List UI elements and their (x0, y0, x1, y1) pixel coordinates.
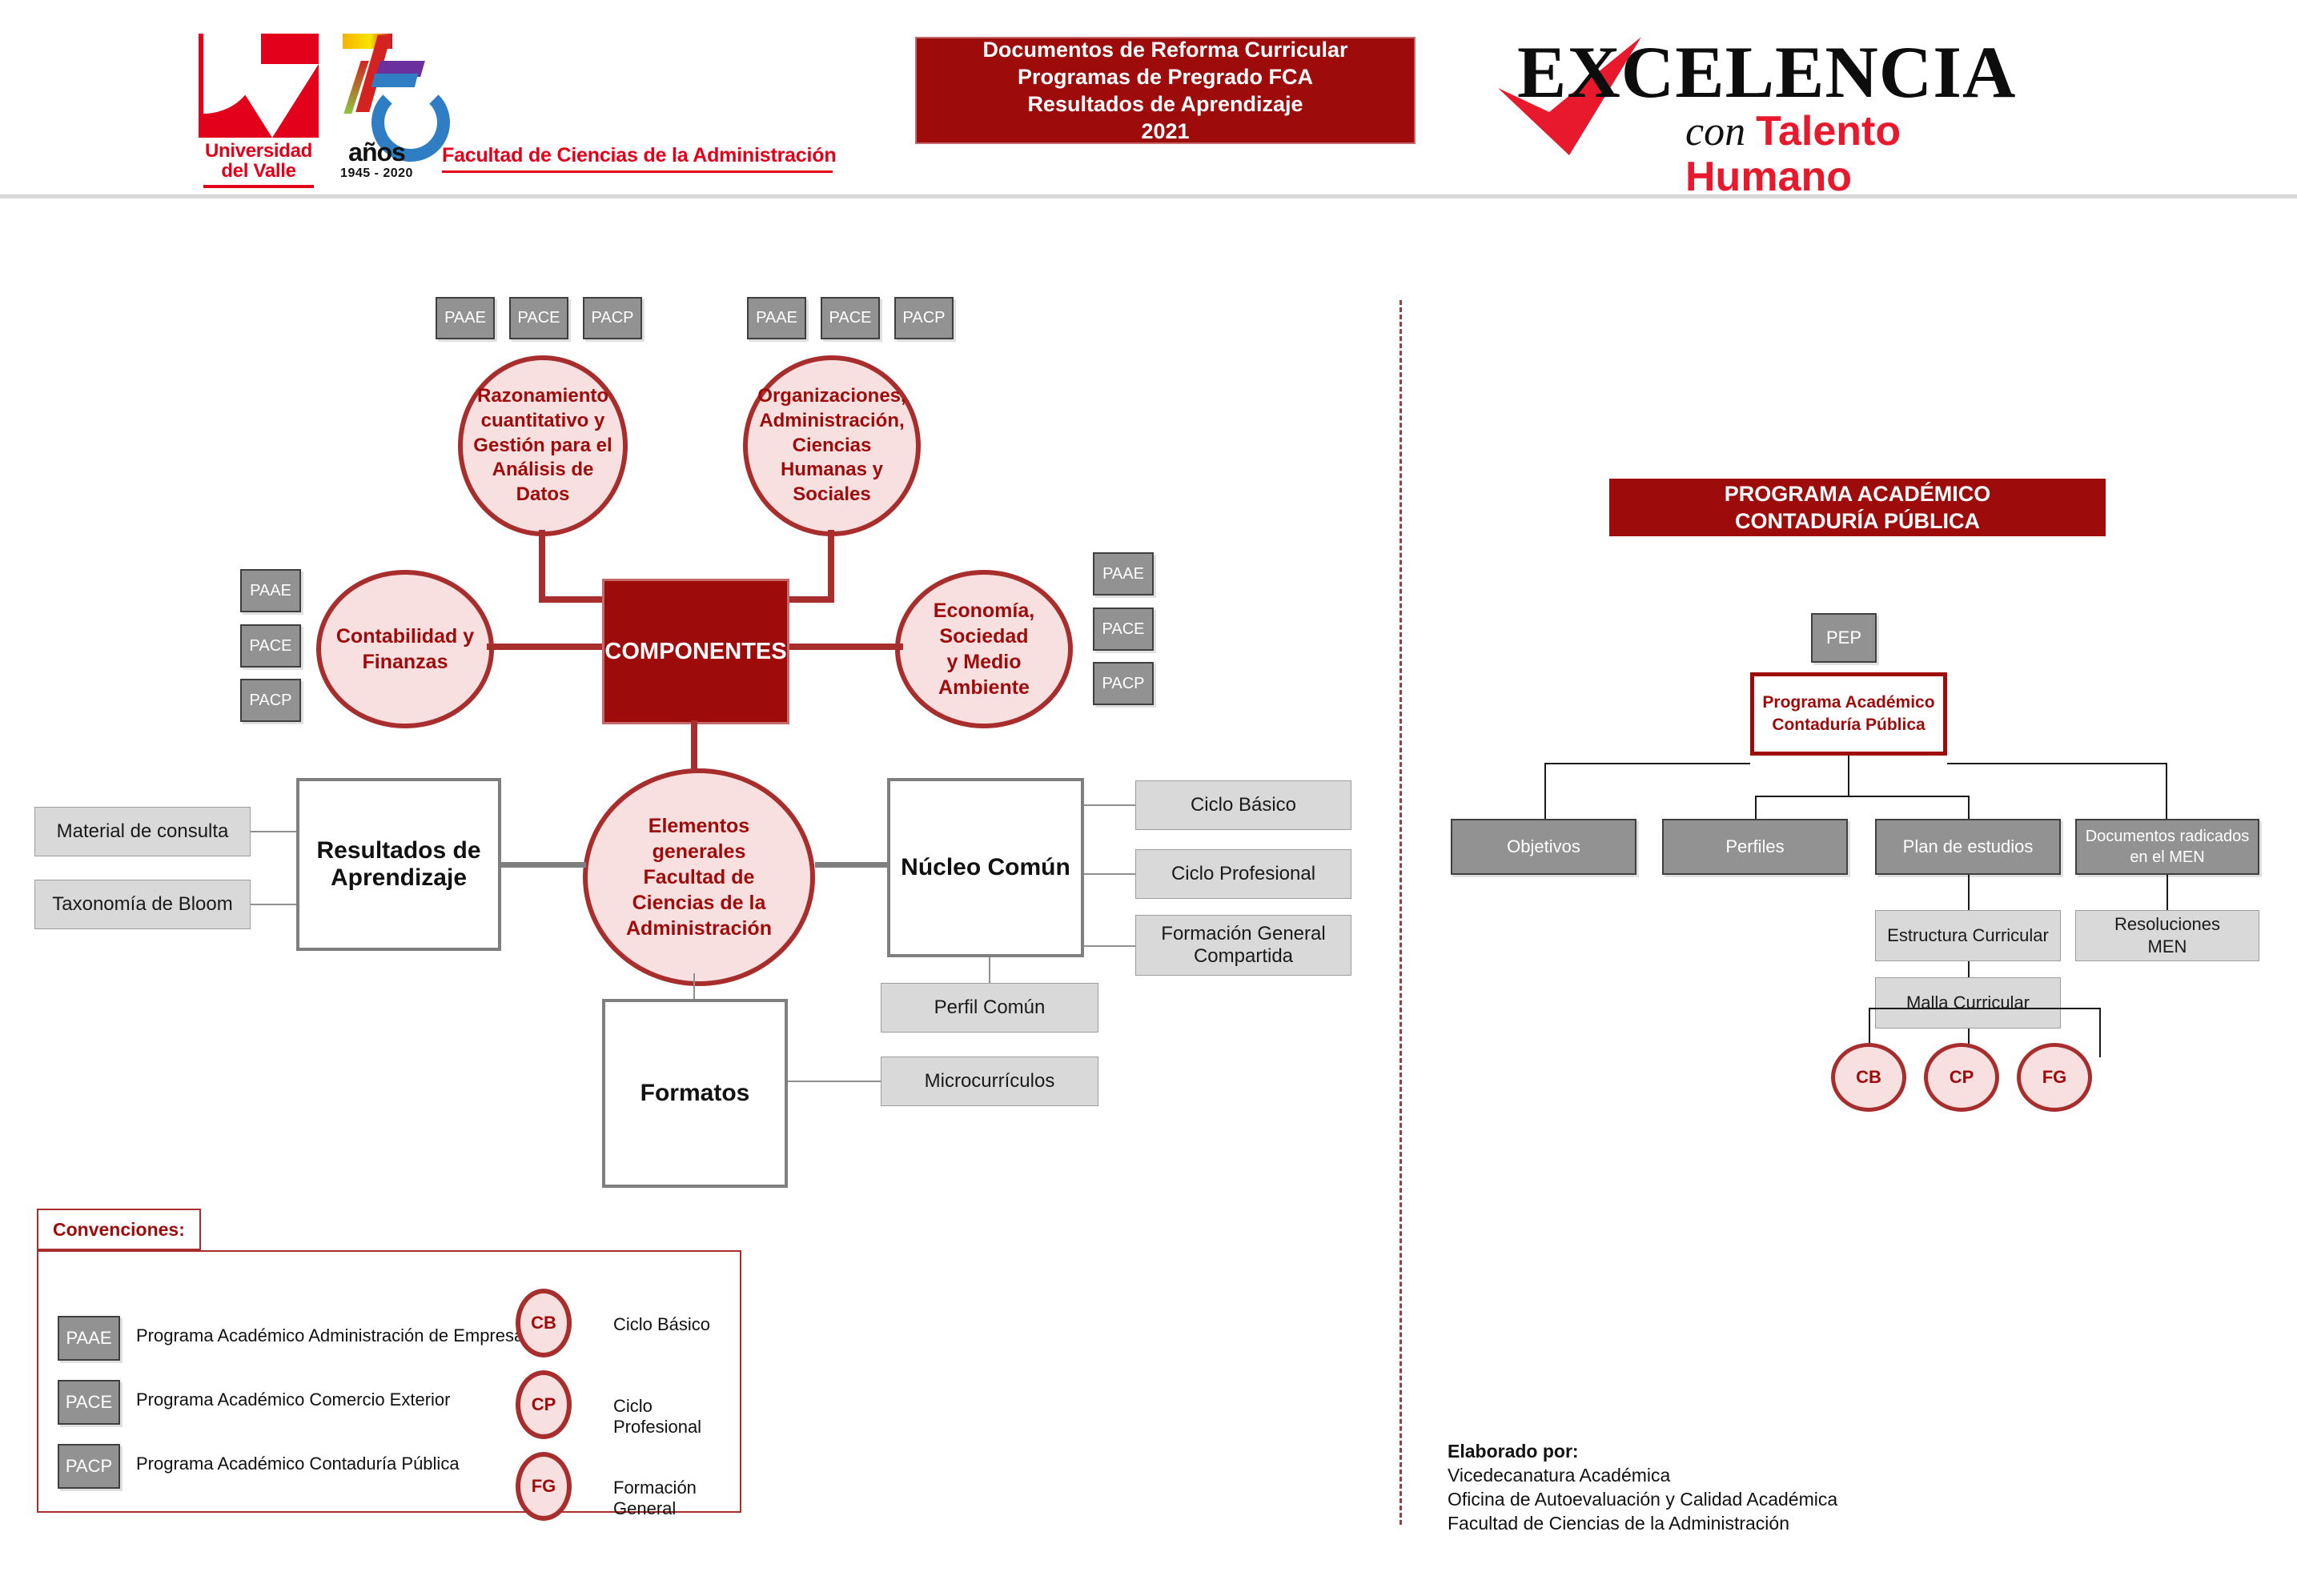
connector-taxonomia-resultados (251, 904, 296, 905)
elaborado-line3: Facultad de Ciencias de la Administració… (1448, 1511, 2008, 1535)
connector-documentos-resoluciones (2166, 875, 2168, 910)
convenciones-tab: Convenciones: (37, 1209, 201, 1250)
resoluciones-men-box[interactable]: Resoluciones MEN (2075, 910, 2259, 961)
connector-root-left-bus (1544, 763, 1750, 764)
legend-label-paae: Programa Académico Administración de Emp… (136, 1325, 532, 1346)
connector-material-resultados (251, 831, 296, 832)
nucleo-comun-box[interactable]: Núcleo Común (887, 778, 1084, 957)
plan-estudios-box[interactable]: Plan de estudios (1875, 819, 2061, 875)
microcurriculos-box[interactable]: Microcurrículos (881, 1057, 1098, 1106)
tag-paae-comp2[interactable]: PAAE (747, 297, 806, 339)
header-divider (0, 194, 2297, 198)
tag-pace-comp3[interactable]: PACE (240, 624, 301, 668)
legend-label-pace: Programa Académico Comercio Exterior (136, 1389, 450, 1410)
tag-pacp-comp1[interactable]: PACP (583, 297, 642, 339)
connector-nucleo-perfil (989, 957, 990, 983)
material-consulta-box[interactable]: Material de consulta (34, 807, 251, 856)
vertical-dashed-divider (1399, 300, 1402, 1525)
malla-curricular-box[interactable]: Malla Curricular (1875, 977, 2061, 1029)
legend-circle-cb[interactable]: CB (516, 1289, 572, 1357)
univalle-underline (203, 185, 314, 188)
connector-root-down (1848, 756, 1849, 797)
cycle-circle-fg[interactable]: FG (2017, 1043, 2092, 1112)
excelencia-logo: EXCELENCIA con Talento Humano (1485, 30, 1998, 158)
estructura-curricular-box[interactable]: Estructura Curricular (1875, 910, 2061, 961)
title-line-4: 2021 (982, 118, 1347, 145)
talento-humano-line: con Talento Humano (1685, 109, 1998, 199)
connector-plan-estructura (1968, 875, 1970, 910)
tag-pace-comp2[interactable]: PACE (821, 297, 880, 339)
five-glyph-icon (368, 74, 429, 144)
component-circle-contabilidad[interactable]: Contabilidad y Finanzas (316, 570, 494, 728)
con-word: con (1685, 109, 1756, 154)
elementos-generales-circle[interactable]: Elementos generales Facultad de Ciencias… (583, 768, 815, 986)
objetivos-box[interactable]: Objetivos (1451, 819, 1636, 875)
legend-chip-paae[interactable]: PAAE (58, 1316, 120, 1361)
connector-resultados-elementos (501, 862, 586, 868)
page-header: Universidad del Valle años 1945 - 2020 F… (0, 0, 2297, 197)
universidad-del-valle-logo: Universidad del Valle (199, 34, 319, 190)
connector-formatos-microcurriculos (788, 1081, 881, 1082)
tag-pace-comp1[interactable]: PACE (509, 297, 568, 339)
tag-pace-comp4[interactable]: PACE (1093, 608, 1154, 651)
elaborado-por-block: Elaborado por: Vicedecanatura Académica … (1448, 1439, 2008, 1535)
connector-comp2-down (828, 530, 834, 602)
tag-pacp-comp3[interactable]: PACP (240, 679, 301, 722)
legend-label-fg: Formación General (613, 1478, 740, 1519)
connector-comp1-down (539, 530, 545, 602)
perfiles-box[interactable]: Perfiles (1662, 819, 1848, 875)
connector-elementos-nucleo (815, 862, 887, 868)
connector-nucleo-cicloprof (1084, 873, 1135, 875)
programa-academico-root-box[interactable]: Programa Académico Contaduría Pública (1750, 672, 1947, 756)
component-circle-economia[interactable]: Economía, Sociedad y Medio Ambiente (895, 570, 1073, 728)
connector-root-right-bus (1947, 763, 2167, 764)
univalle-mark-icon (199, 34, 319, 138)
connector-nucleo-ciclobasico (1084, 804, 1135, 806)
cycle-circle-cp[interactable]: CP (1924, 1043, 1999, 1112)
excelencia-wordmark: EXCELENCIA (1517, 35, 1998, 109)
legend-label-cp: Ciclo Profesional (613, 1396, 740, 1438)
legend-circle-cp[interactable]: CP (516, 1370, 572, 1439)
taxonomia-bloom-box[interactable]: Taxonomía de Bloom (34, 880, 251, 929)
tag-paae-comp1[interactable]: PAAE (436, 297, 495, 339)
legend-chip-pace[interactable]: PACE (58, 1380, 120, 1425)
elaborado-line2: Oficina de Autoevaluación y Calidad Acad… (1448, 1487, 2008, 1511)
component-circle-organizaciones[interactable]: Organizaciones, Administración, Ciencias… (743, 355, 921, 536)
connector-fg-drop (2099, 1008, 2101, 1057)
legend-label-cb: Ciclo Básico (613, 1314, 710, 1335)
document-title-block: Documentos de Reforma Curricular Program… (915, 37, 1416, 144)
anios-label: años (327, 138, 427, 167)
univalle-line2: del Valle (199, 161, 319, 181)
connector-economia-center (783, 644, 903, 650)
univalle-name: Universidad del Valle (199, 141, 319, 181)
connector-mid-bus (1755, 796, 1970, 797)
univalle-line1: Universidad (199, 141, 319, 161)
pep-box[interactable]: PEP (1811, 613, 1877, 663)
connector-center-down (691, 720, 697, 775)
perfil-comun-box[interactable]: Perfil Común (881, 983, 1098, 1033)
formatos-box[interactable]: Formatos (602, 999, 788, 1188)
legend-label-pacp: Programa Académico Contaduría Pública (136, 1454, 460, 1474)
right-panel-title: PROGRAMA ACADÉMICO CONTADURÍA PÚBLICA (1609, 479, 2106, 536)
tag-paae-comp4[interactable]: PAAE (1093, 552, 1154, 595)
tag-pacp-comp4[interactable]: PACP (1093, 662, 1154, 705)
tag-pacp-comp2[interactable]: PACP (894, 297, 954, 339)
title-line-3: Resultados de Aprendizaje (982, 90, 1347, 118)
legend-chip-pacp[interactable]: PACP (58, 1444, 120, 1489)
legend-circle-fg[interactable]: FG (516, 1452, 572, 1521)
formacion-general-compartida-box[interactable]: Formación General Compartida (1135, 915, 1351, 976)
elaborado-heading: Elaborado por: (1448, 1439, 2008, 1463)
faculty-name: Facultad de Ciencias de la Administració… (442, 144, 858, 167)
connector-nucleo-formacion (1084, 945, 1135, 947)
title-line-1: Documentos de Reforma Curricular (982, 36, 1347, 63)
connector-elementos-formatos (693, 973, 695, 999)
connector-malla-bus (1869, 1008, 2101, 1009)
tag-paae-comp3[interactable]: PAAE (240, 569, 301, 612)
convenciones-panel: PAAE Programa Académico Administración d… (37, 1250, 741, 1513)
ciclo-profesional-box[interactable]: Ciclo Profesional (1135, 849, 1351, 899)
ciclo-basico-box[interactable]: Ciclo Básico (1135, 780, 1351, 830)
anios-years: 1945 - 2020 (327, 166, 427, 181)
75-anios-logo: años 1945 - 2020 (327, 32, 427, 190)
componentes-center-box[interactable]: COMPONENTES (602, 579, 789, 724)
cycle-circle-cb[interactable]: CB (1831, 1043, 1906, 1112)
elaborado-line1: Vicedecanatura Académica (1448, 1463, 2008, 1487)
component-circle-razonamiento[interactable]: Razonamiento cuantitativo y Gestión para… (458, 355, 628, 536)
title-line-2: Programas de Pregrado FCA (982, 63, 1347, 90)
documentos-radicados-box[interactable]: Documentos radicados en el MEN (2075, 819, 2259, 875)
connector-contabilidad-center (487, 644, 607, 650)
faculty-underline (442, 170, 833, 173)
resultados-aprendizaje-box[interactable]: Resultados de Aprendizaje (296, 778, 501, 951)
